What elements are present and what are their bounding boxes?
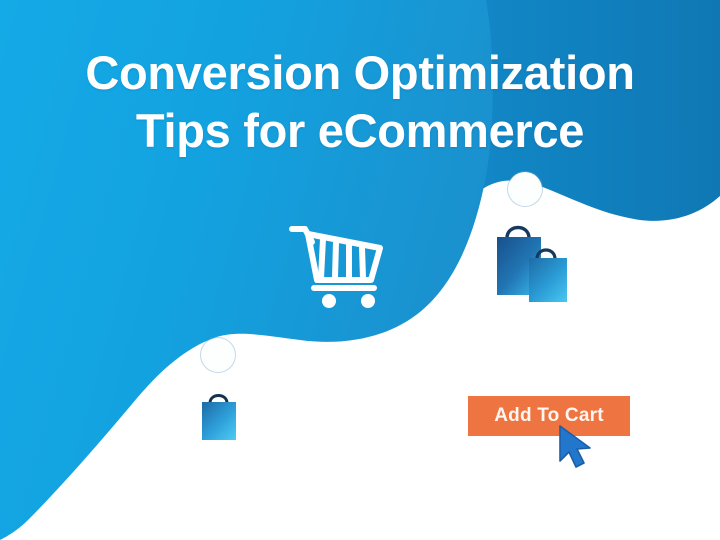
marketing-banner: Conversion Optimization Tips for eCommer… xyxy=(0,0,720,540)
shopping-bag-icon xyxy=(529,258,567,302)
shopping-cart-icon xyxy=(288,220,388,310)
shopping-bags-group xyxy=(493,212,583,312)
decorative-circle-icon xyxy=(201,338,235,372)
bag-handle-icon xyxy=(210,396,227,404)
shopping-bag-icon-small xyxy=(197,387,241,443)
bag-handle-icon xyxy=(507,228,529,239)
add-to-cart-button[interactable]: Add To Cart xyxy=(468,396,630,436)
decorative-circle-icon xyxy=(508,172,542,206)
